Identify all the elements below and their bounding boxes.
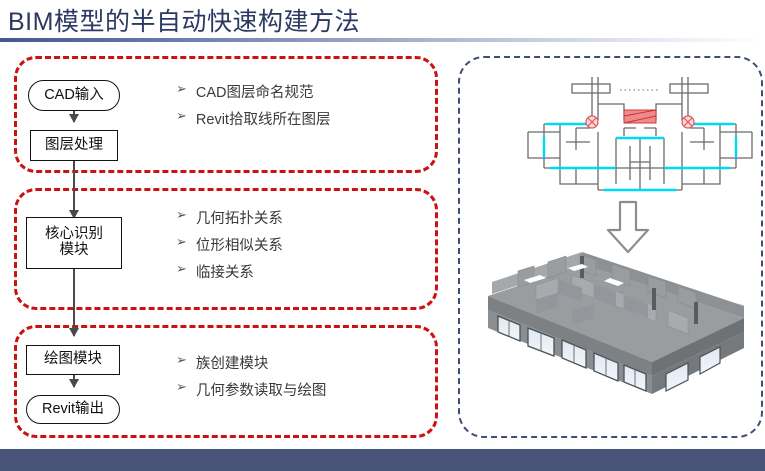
- arrow-bullet-icon: ➢: [176, 207, 187, 223]
- arrow-bullet-icon: ➢: [176, 352, 187, 368]
- list-item: ➢ CAD图层命名规范: [176, 81, 330, 102]
- flow-node-revit-output[interactable]: Revit输出: [26, 395, 120, 424]
- flow-node-core-line1: 核心识别: [45, 227, 103, 243]
- flow-node-cad-input[interactable]: CAD输入: [28, 80, 120, 111]
- title-divider: [0, 38, 765, 42]
- page-title: BIM模型的半自动快速构建方法: [8, 2, 360, 38]
- flow-node-layer-processing[interactable]: 图层处理: [30, 130, 118, 161]
- slide-root: BIM模型的半自动快速构建方法 CAD输入 图层处理 核心识别 模块 绘图模块 …: [0, 0, 765, 471]
- cad-floor-plan: [520, 72, 760, 202]
- illustration-panel: [458, 56, 763, 438]
- connector-cad-to-layer: [73, 110, 75, 122]
- bullet-list-input: ➢ CAD图层命名规范 ➢ Revit拾取线所在图层: [176, 81, 330, 135]
- arrow-bullet-icon: ➢: [176, 379, 187, 395]
- list-item: ➢ 族创建模块: [176, 352, 326, 373]
- arrow-bullet-icon: ➢: [176, 261, 187, 277]
- list-item-label: 几何拓扑关系: [196, 207, 283, 228]
- list-item: ➢ 临接关系: [176, 261, 283, 282]
- list-item-label: Revit拾取线所在图层: [196, 108, 331, 129]
- connector-layer-to-core: [73, 160, 75, 218]
- list-item-label: 位形相似关系: [196, 234, 283, 255]
- list-item: ➢ 几何参数读取与绘图: [176, 379, 326, 400]
- list-item: ➢ 几何拓扑关系: [176, 207, 283, 228]
- flow-node-core-recognition[interactable]: 核心识别 模块: [26, 217, 122, 269]
- list-item-label: 几何参数读取与绘图: [196, 379, 327, 400]
- arrow-bullet-icon: ➢: [176, 108, 187, 124]
- list-item: ➢ 位形相似关系: [176, 234, 283, 255]
- bim-3d-model: [462, 244, 762, 434]
- flow-node-drawing-module[interactable]: 绘图模块: [26, 345, 120, 375]
- bullet-list-output: ➢ 族创建模块 ➢ 几何参数读取与绘图: [176, 352, 326, 406]
- flow-node-core-line2: 模块: [45, 243, 103, 259]
- footer-bar: [0, 449, 765, 471]
- arrow-bullet-icon: ➢: [176, 234, 187, 250]
- connector-core-to-draw: [73, 268, 75, 336]
- bullet-list-recognition: ➢ 几何拓扑关系 ➢ 位形相似关系 ➢ 临接关系: [176, 207, 283, 288]
- connector-draw-to-revit: [73, 374, 75, 387]
- list-item-label: CAD图层命名规范: [196, 81, 314, 102]
- list-item-label: 临接关系: [196, 261, 254, 282]
- list-item-label: 族创建模块: [196, 352, 269, 373]
- arrow-bullet-icon: ➢: [176, 81, 187, 97]
- list-item: ➢ Revit拾取线所在图层: [176, 108, 330, 129]
